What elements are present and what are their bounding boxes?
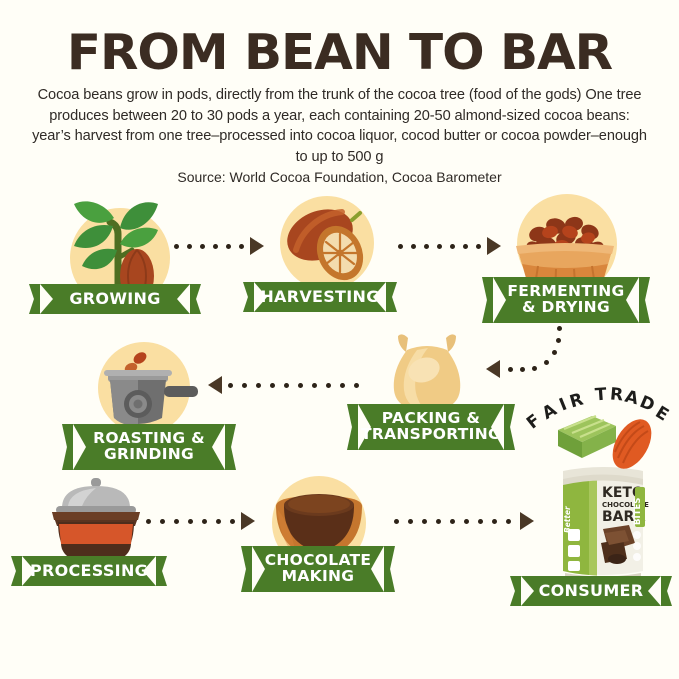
- subtitle-text: Cocoa beans grow in pods, directly from …: [31, 85, 649, 168]
- arrow-processing-to-chocolate: [146, 518, 256, 528]
- page-title: FROM BEAN TO BAR: [0, 0, 679, 77]
- ribbon-notch-left: [73, 424, 86, 470]
- ribbon-notch-right: [491, 404, 504, 450]
- infographic-canvas: FROM BEAN TO BAR Cocoa beans grow in pod…: [0, 0, 679, 679]
- arrow-harvesting-to-fermenting: [398, 243, 508, 253]
- banner-growing-label: GROWING: [63, 291, 166, 307]
- banner-roasting-label-line2: GRINDING: [98, 447, 200, 463]
- banner-packing[interactable]: PACKING & TRANSPORTING: [358, 404, 504, 450]
- banner-chocolate-label-line2: MAKING: [276, 569, 361, 585]
- fair-trade-icon: [520, 378, 679, 488]
- banner-processing-label: PROCESSING: [24, 563, 154, 579]
- banner-fermenting-label-line2: & DRYING: [516, 300, 616, 316]
- banner-chocolate[interactable]: CHOCOLATE MAKING: [252, 546, 384, 592]
- package-side-label: BITES: [633, 498, 643, 525]
- banner-harvesting[interactable]: HARVESTING: [254, 282, 386, 312]
- banner-growing[interactable]: GROWING: [40, 284, 190, 314]
- banner-fermenting[interactable]: FERMENTING & DRYING: [493, 277, 639, 323]
- ribbon-notch-right: [212, 424, 225, 470]
- arrow-packing-to-roasting: [208, 382, 368, 392]
- ribbon-notch-right: [177, 284, 190, 314]
- banner-consumer[interactable]: CONSUMER: [521, 576, 661, 606]
- header: FROM BEAN TO BAR Cocoa beans grow in pod…: [0, 0, 679, 185]
- arrow-chocolate-to-consumer: [394, 518, 544, 528]
- banner-packing-label-line2: TRANSPORTING: [355, 427, 507, 443]
- banner-roasting[interactable]: ROASTING & GRINDING: [73, 424, 225, 470]
- source-credit: Source: World Cocoa Foundation, Cocoa Ba…: [0, 169, 679, 185]
- arrow-growing-to-harvesting: [174, 243, 264, 253]
- banner-consumer-label: CONSUMER: [533, 583, 650, 599]
- cocoa-pod-icon: [272, 190, 382, 295]
- ribbon-notch-left: [40, 284, 53, 314]
- step-harvesting[interactable]: [272, 190, 382, 295]
- package-brand: Better: [563, 505, 572, 533]
- banner-processing[interactable]: PROCESSING: [22, 556, 156, 586]
- banner-harvesting-label: HARVESTING: [254, 289, 385, 305]
- fair-trade-emblem: F A I R T R A D E: [520, 378, 679, 488]
- ribbon-notch-right: [648, 576, 661, 606]
